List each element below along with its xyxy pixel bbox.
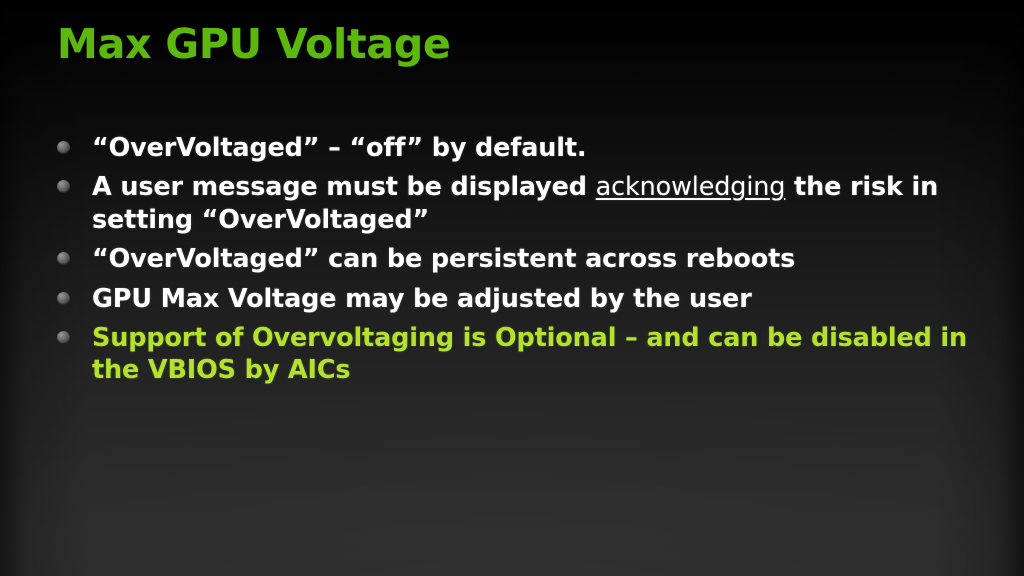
bullet-sphere-icon	[57, 252, 70, 265]
list-item: GPU Max Voltage may be adjusted by the u…	[57, 283, 977, 315]
list-item: “OverVoltaged” – “off” by default.	[57, 132, 977, 164]
bullet-sphere-icon	[57, 331, 70, 344]
list-item-emphasis: acknowledging	[596, 172, 786, 202]
list-item-label: GPU Max Voltage may be adjusted by the u…	[92, 283, 977, 315]
presentation-slide: Max GPU Voltage “OverVoltaged” – “off” b…	[0, 0, 1024, 576]
list-item-highlighted: Support of Overvoltaging is Optional – a…	[57, 322, 977, 387]
list-item-label: A user message must be displayed acknowl…	[92, 171, 977, 236]
page-title: Max GPU Voltage	[57, 20, 451, 68]
list-item: A user message must be displayed acknowl…	[57, 171, 977, 236]
bullet-list: “OverVoltaged” – “off” by default. A use…	[57, 132, 977, 387]
list-item: “OverVoltaged” can be persistent across …	[57, 243, 977, 275]
bullet-sphere-icon	[57, 141, 70, 154]
bullet-sphere-icon	[57, 292, 70, 305]
list-item-label-before: A user message must be displayed	[92, 172, 596, 202]
list-item-label: Support of Overvoltaging is Optional – a…	[92, 322, 977, 387]
list-item-label: “OverVoltaged” can be persistent across …	[92, 243, 977, 275]
list-item-label: “OverVoltaged” – “off” by default.	[92, 132, 977, 164]
bullet-sphere-icon	[57, 180, 70, 193]
slide-content: Max GPU Voltage “OverVoltaged” – “off” b…	[0, 0, 1024, 576]
